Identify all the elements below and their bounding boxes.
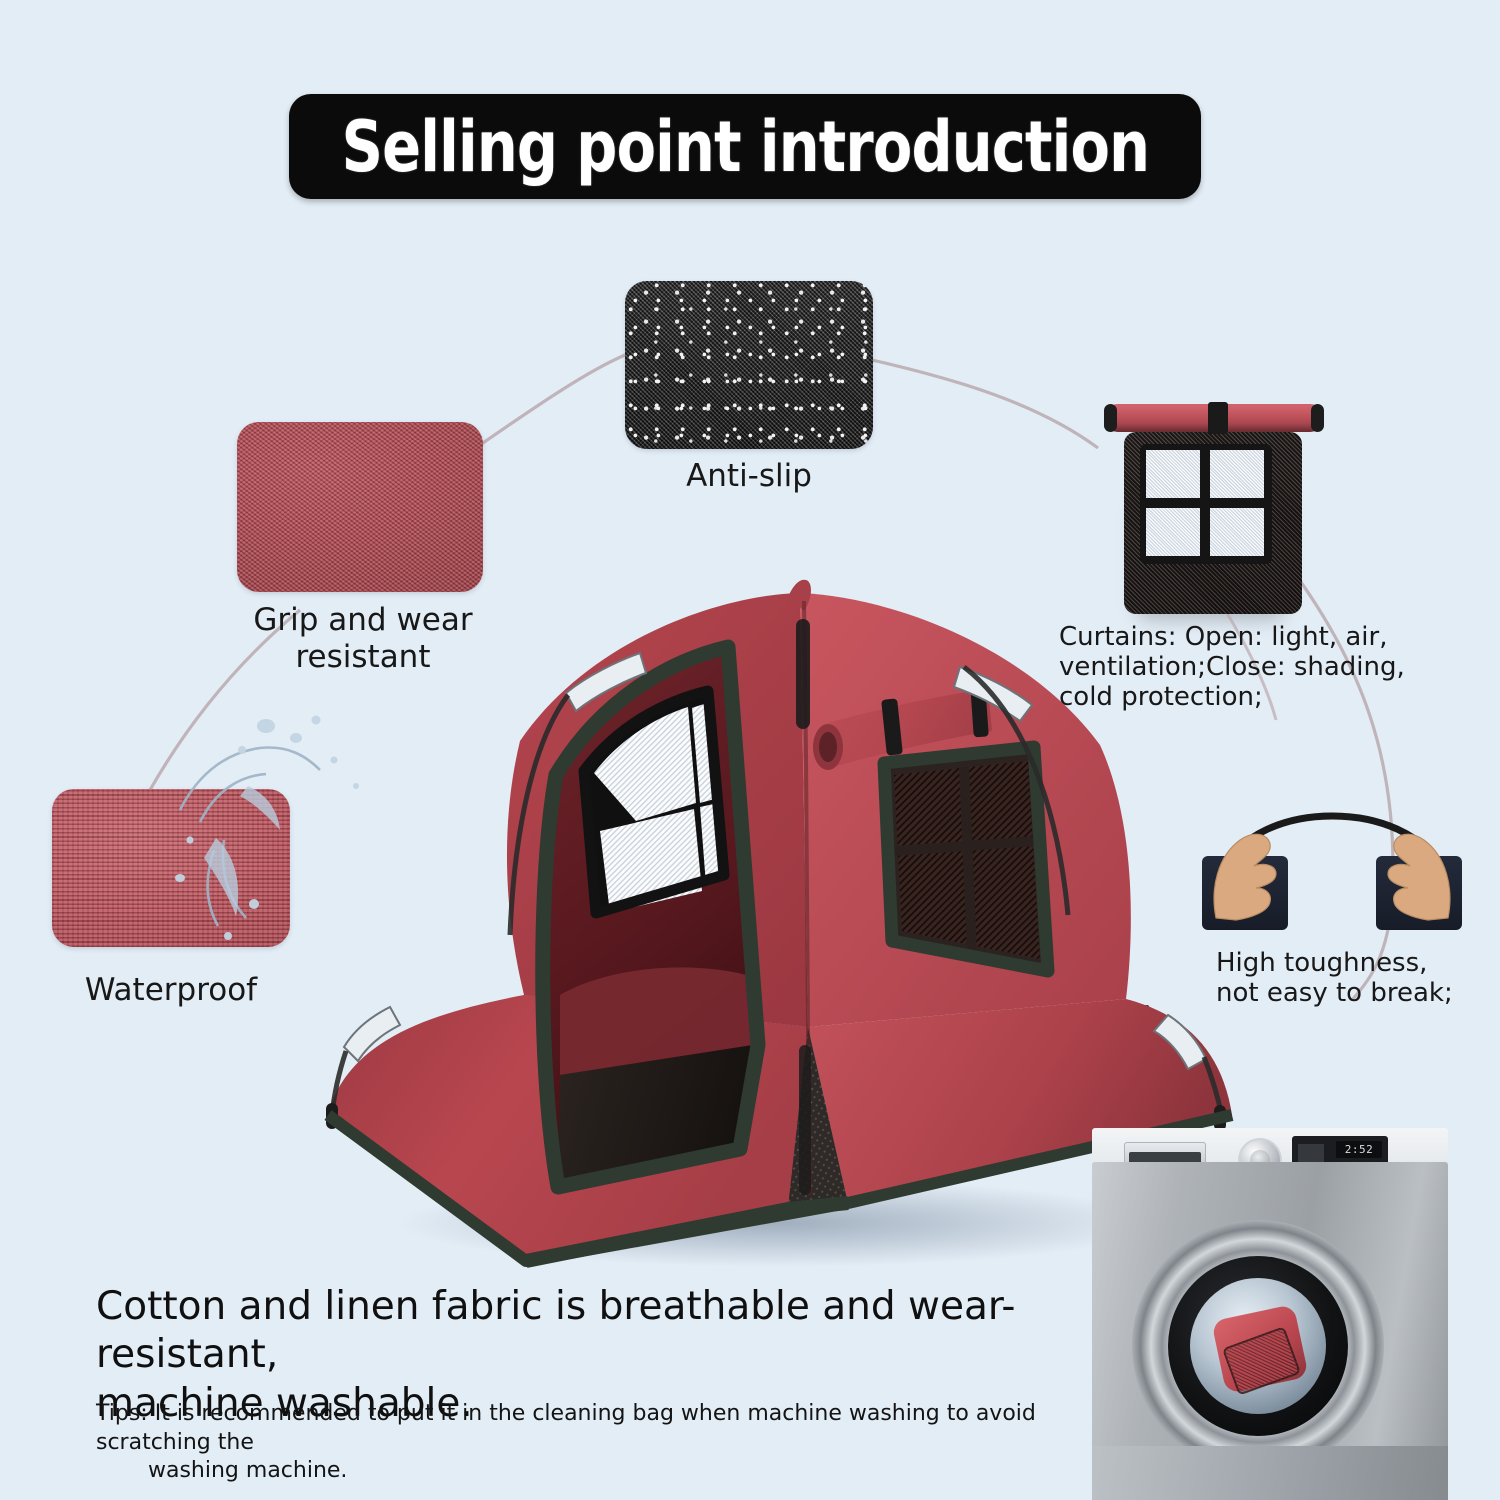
washer-base [1092, 1446, 1448, 1500]
waterproof-fabric-swatch [52, 789, 290, 947]
footer-tips: Tips: It is recommended to put it in the… [96, 1400, 1046, 1486]
anti-slip-label: Anti-slip [624, 458, 874, 495]
anti-slip-fabric-swatch [625, 281, 873, 449]
washer-door[interactable] [1132, 1220, 1384, 1472]
curtain-strap [1208, 402, 1228, 434]
tent-in-drum [1211, 1304, 1309, 1394]
tips-label: Tips: [96, 1401, 148, 1426]
laundry-mesh-bag [1222, 1326, 1301, 1396]
washer-time-remaining: 2:52 [1345, 1143, 1374, 1156]
toughness-label: High toughness, not easy to break; [1216, 948, 1500, 1008]
tips-body: It is recommended to put it in the clean… [96, 1401, 1036, 1455]
tips-body-line2: washing machine. [96, 1457, 1046, 1486]
curtain-window-grid [1140, 444, 1272, 564]
infographic-canvas: Selling point introduction Grip and wear… [0, 0, 1500, 1500]
washer-display: 2:52 [1336, 1141, 1382, 1158]
rolled-curtain-bar [1104, 404, 1324, 432]
waterproof-label: Waterproof [36, 972, 306, 1009]
washing-machine-image: 2:52 [1078, 1128, 1470, 1500]
washer-door-glass [1168, 1256, 1348, 1436]
washer-drum [1190, 1278, 1326, 1414]
grip-wear-fabric-swatch [237, 422, 483, 592]
